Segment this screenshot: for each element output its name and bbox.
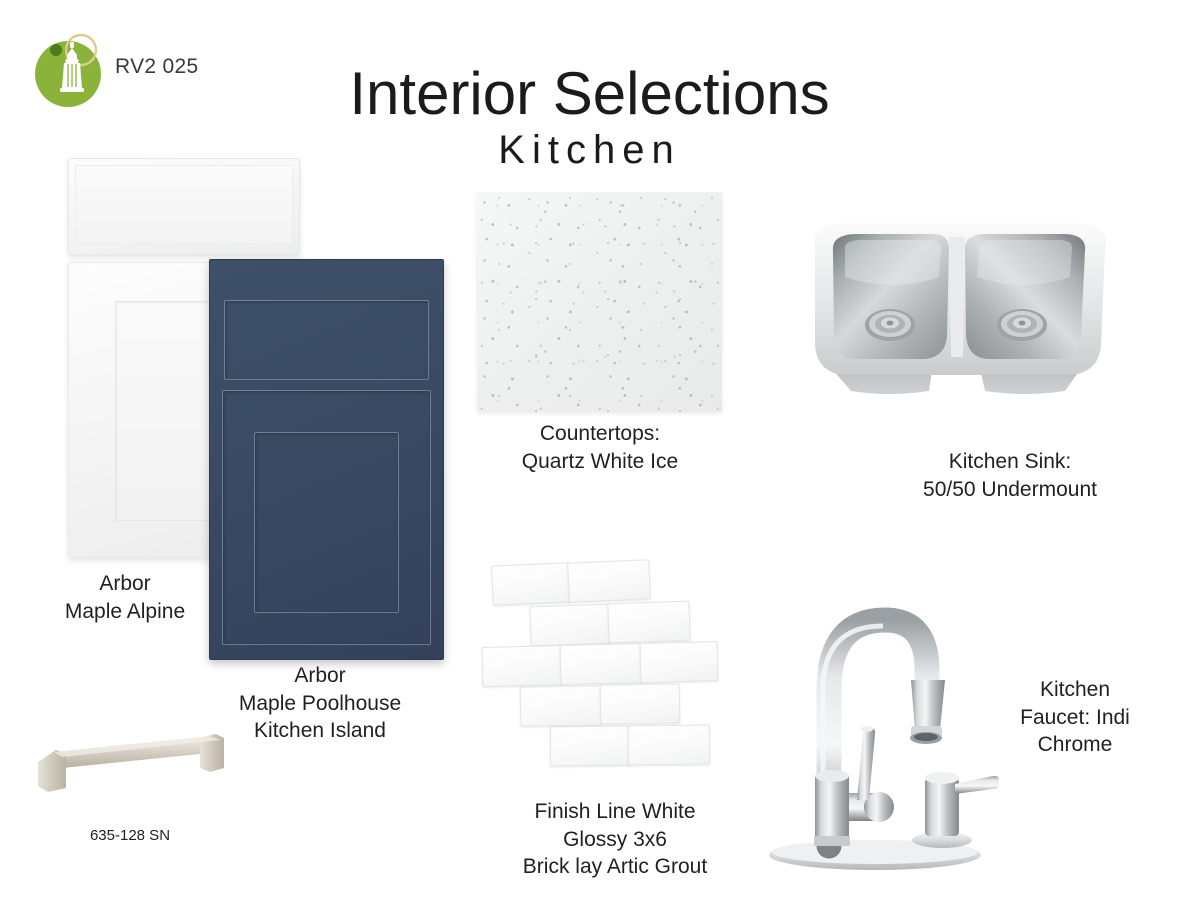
white-cabinet-drawer-front-icon <box>68 158 300 255</box>
tile-piece <box>481 645 562 687</box>
navy-cabinet-center-panel <box>254 432 399 613</box>
countertop-caption: Countertops: Quartz White Ice <box>470 420 730 475</box>
pull-down-chrome-faucet-icon <box>757 578 1007 878</box>
tile-piece <box>520 685 603 726</box>
subway-tile-brick-lay-icon <box>480 558 720 773</box>
tile-piece <box>600 683 681 724</box>
tile-piece <box>559 643 642 685</box>
navy-cabinet-top-drawer-panel <box>224 300 429 380</box>
page-title: Interior Selections <box>0 64 1179 124</box>
quartz-slab-swatch-icon <box>477 192 722 412</box>
backsplash-tile-caption: Finish Line White Glossy 3x6 Brick lay A… <box>480 798 750 881</box>
tile-piece <box>639 641 718 683</box>
tile-piece <box>607 601 690 644</box>
double-bowl-undermount-sink-icon <box>793 215 1123 405</box>
tile-piece <box>529 604 610 647</box>
tile-piece <box>628 725 710 766</box>
navy-cabinet-caption: Arbor Maple Poolhouse Kitchen Island <box>205 662 435 745</box>
tile-piece <box>550 726 630 767</box>
tile-piece <box>491 562 571 605</box>
kitchen-sink-caption: Kitchen Sink: 50/50 Undermount <box>860 448 1160 503</box>
navy-shaker-cabinet-door-icon <box>209 259 444 660</box>
tile-piece <box>567 559 651 603</box>
kitchen-faucet-caption: Kitchen Faucet: Indi Chrome <box>975 676 1175 759</box>
white-cabinet-caption: Arbor Maple Alpine <box>20 570 230 625</box>
bar-pull-hardware-icon <box>24 728 238 798</box>
cabinet-pull-caption: 635-128 SN <box>40 826 220 846</box>
